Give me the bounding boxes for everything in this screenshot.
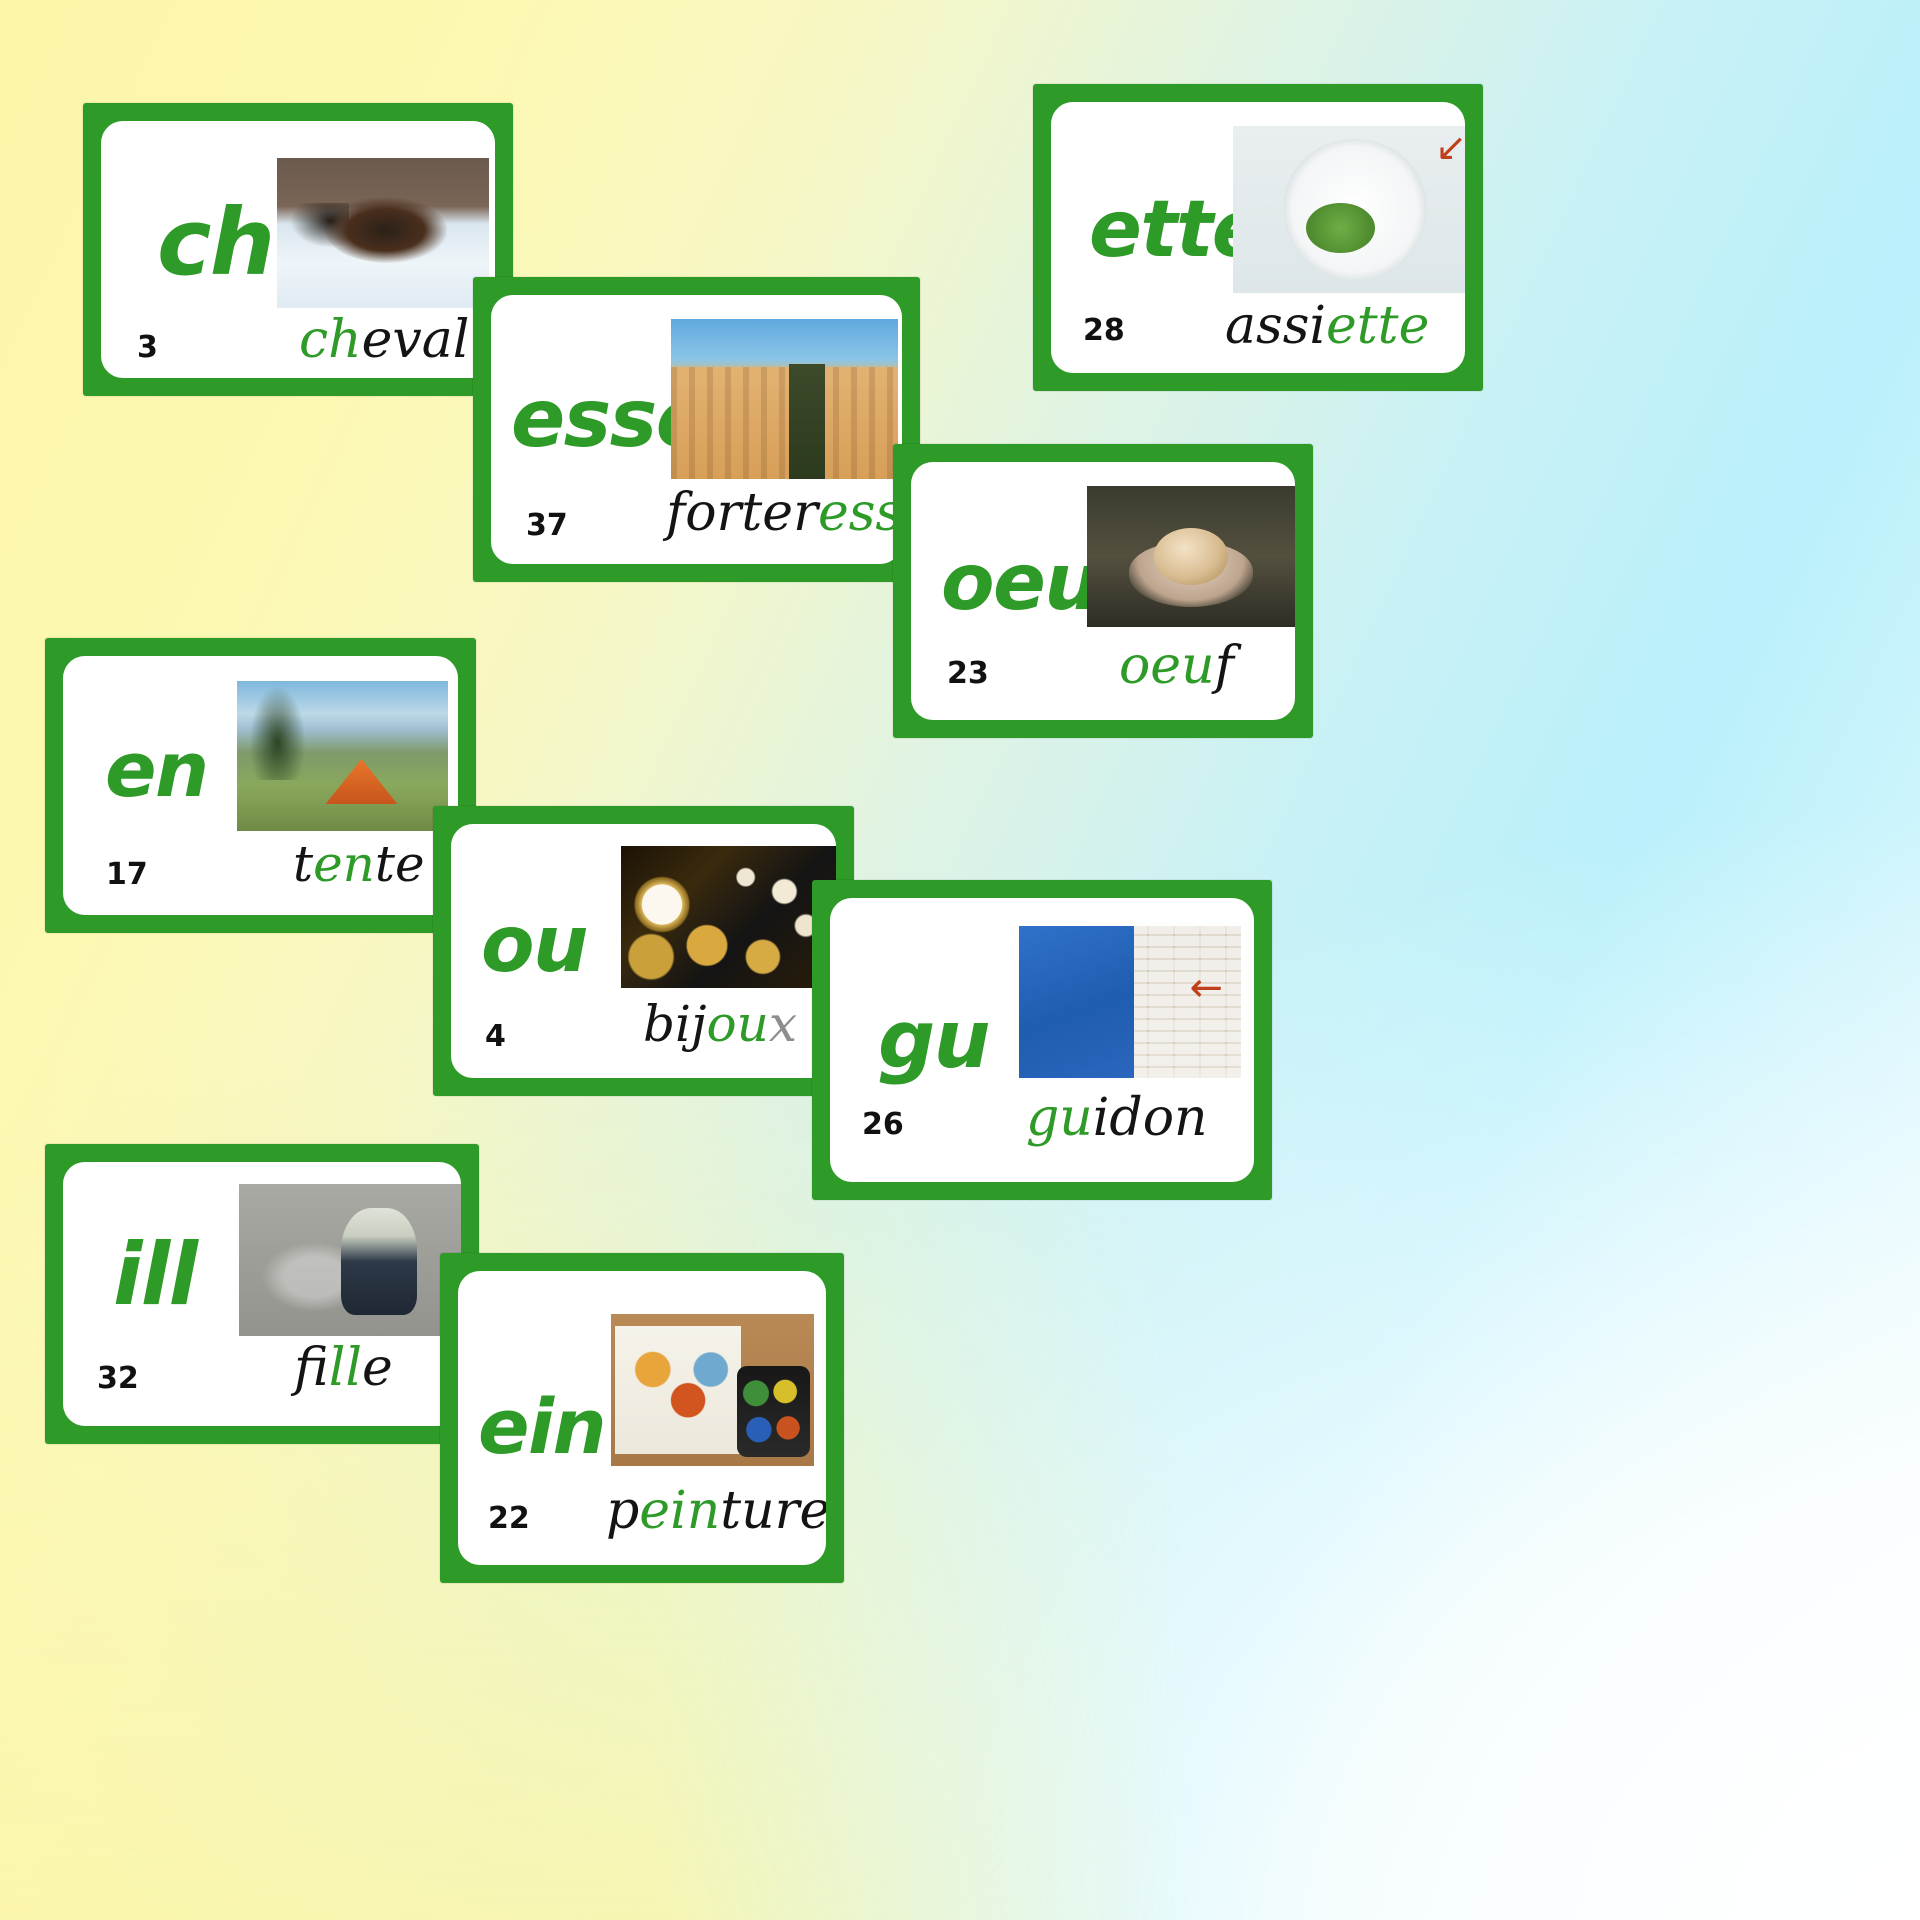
grapheme-ch: ch (157, 197, 273, 289)
word-fille-part-2: ill (329, 1338, 362, 1398)
card-number-ein: 22 (488, 1504, 530, 1534)
photo-child-on-bicycle-handlebar: ← (1019, 926, 1241, 1078)
flashcard-ch[interactable]: ch cheval 3 (83, 103, 513, 396)
word-peinture-part-3: ture (720, 1481, 826, 1541)
card-number-en: 17 (106, 860, 148, 890)
word-oeuf-part-2: f (1215, 636, 1234, 696)
word-tente: tente (293, 839, 425, 889)
flashcard-ch-inner: ch cheval 3 (101, 121, 495, 378)
grapheme-ill: ill (113, 1232, 196, 1318)
word-fille-part-1: f (294, 1338, 329, 1398)
flashcard-oeu[interactable]: oeu oeuf 23 (893, 444, 1313, 738)
word-tente-part-2: en (313, 835, 375, 893)
card-number-gu: 26 (862, 1110, 904, 1140)
word-tente-part-1: t (293, 835, 313, 893)
photo-plate-with-food: ↙ (1233, 126, 1465, 293)
photo-girl-drawing-on-ground (239, 1184, 461, 1336)
flashcard-ette[interactable]: ette ↙ assiette 28 (1033, 84, 1483, 391)
word-forteresse-part-2: esse (818, 483, 902, 543)
flashcard-ou-inner: ou bijoux 4 (451, 824, 836, 1078)
flashcard-ill-inner: ill fille 32 (63, 1162, 461, 1426)
word-oeuf: oeuf (1119, 640, 1234, 692)
flashcard-ou[interactable]: ou bijoux 4 (433, 806, 854, 1096)
card-number-ette: 28 (1083, 316, 1125, 346)
word-oeuf-part-1: oeu (1119, 636, 1215, 696)
word-fille: fille (294, 1342, 393, 1394)
word-forteresse: forteresse (666, 487, 902, 539)
word-cheval: cheval (299, 314, 469, 366)
flashcard-esse-inner: esse forteresse 37 (491, 295, 902, 564)
flashcard-ill[interactable]: ill fille 32 (45, 1144, 479, 1444)
card-number-ch: 3 (137, 333, 158, 363)
flashcard-oeu-inner: oeu oeuf 23 (911, 462, 1295, 720)
photo-watercolour-painting (611, 1314, 814, 1466)
pointer-arrow-icon: ← (1189, 968, 1223, 1008)
grapheme-ein: ein (478, 1389, 605, 1465)
word-tente-part-3: te (375, 835, 425, 893)
flashcard-en-inner: en tente 17 (63, 656, 458, 915)
word-cheval-part-2: eval (362, 310, 470, 370)
card-number-ill: 32 (97, 1364, 139, 1394)
word-assiette-part-2: ette (1326, 296, 1429, 356)
word-cheval-part-1: ch (299, 310, 362, 370)
photo-fortress-with-palms (671, 319, 898, 479)
grapheme-oeu: oeu (941, 544, 1098, 622)
word-forteresse-part-1: forter (666, 483, 818, 543)
pointer-arrow-icon: ↙ (1435, 128, 1465, 166)
word-bijoux: bijoux (643, 999, 797, 1049)
grapheme-gu: gu (878, 1000, 989, 1080)
flashcard-en[interactable]: en tente 17 (45, 638, 476, 933)
word-guidon: guidon (1026, 1092, 1208, 1144)
word-guidon-part-2: idon (1093, 1088, 1208, 1148)
word-fille-part-3: e (362, 1338, 393, 1398)
flashcard-ein-inner: ein peinture 22 (458, 1271, 826, 1565)
flashcard-ein[interactable]: ein peinture 22 (440, 1253, 844, 1583)
word-peinture-part-1: p (606, 1481, 639, 1541)
word-peinture-part-2: ein (639, 1481, 720, 1541)
word-bijoux-part-3: x (769, 995, 797, 1053)
grapheme-ou: ou (481, 906, 587, 984)
card-number-esse: 37 (526, 511, 568, 541)
card-number-oeu: 23 (947, 659, 989, 689)
photo-tent-by-lake (237, 681, 448, 831)
flashcard-gu[interactable]: gu ← guidon 26 (812, 880, 1272, 1200)
flashcard-esse[interactable]: esse forteresse 37 (473, 277, 920, 582)
word-assiette-part-1: assi (1225, 296, 1326, 356)
word-peinture: peinture (606, 1485, 826, 1537)
photo-horse-in-snow (277, 158, 489, 308)
word-assiette: assiette (1225, 300, 1429, 352)
card-number-ou: 4 (485, 1022, 506, 1052)
word-bijoux-part-2: ou (707, 995, 769, 1053)
word-bijoux-part-1: bij (643, 995, 707, 1053)
flashcard-gu-inner: gu ← guidon 26 (830, 898, 1254, 1182)
word-guidon-part-1: gu (1026, 1088, 1093, 1148)
grapheme-en: en (105, 732, 208, 808)
photo-jewellery-pile (621, 846, 836, 988)
photo-hands-holding-egg (1087, 486, 1295, 627)
flashcard-ette-inner: ette ↙ assiette 28 (1051, 102, 1465, 373)
